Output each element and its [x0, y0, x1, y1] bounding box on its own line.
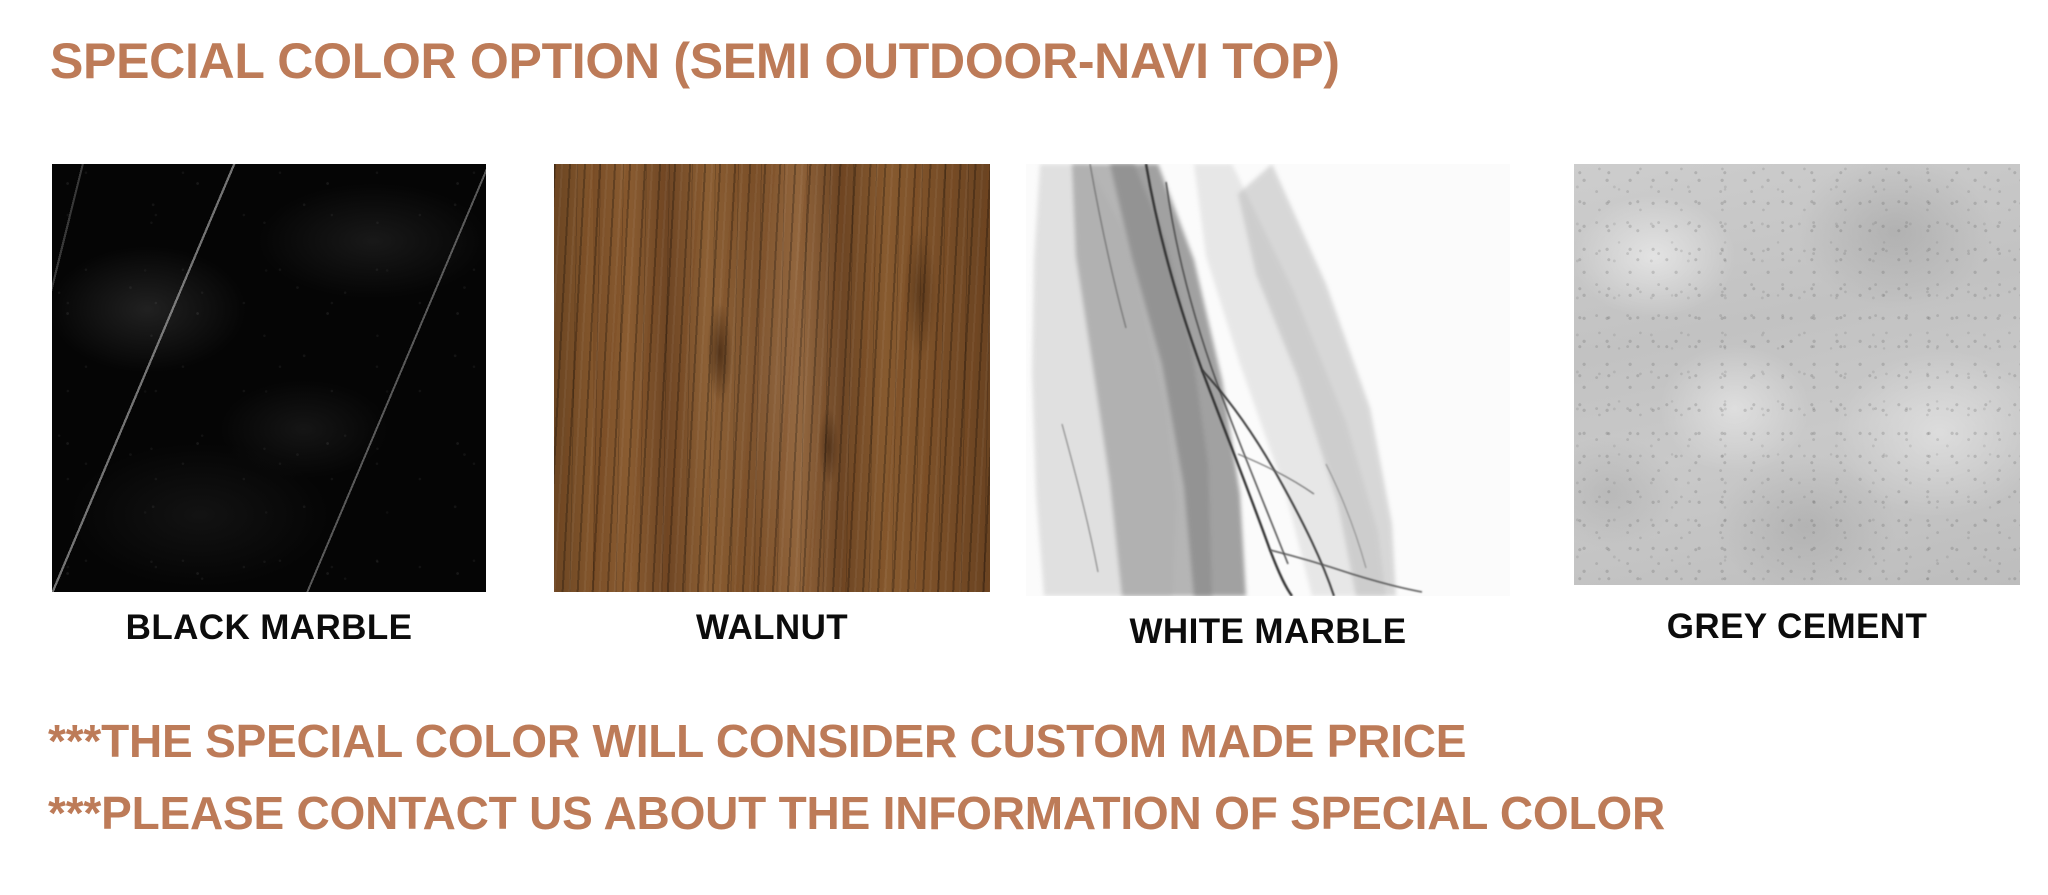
swatch-label-grey-cement: GREY CEMENT	[1574, 607, 2020, 647]
color-swatch-row: BLACK MARBLE WALNUT	[0, 164, 2048, 664]
swatch-item-white-marble[interactable]: WHITE MARBLE	[1026, 164, 1510, 652]
note-line-contact-us: ***PLEASE CONTACT US ABOUT THE INFORMATI…	[48, 777, 2008, 849]
swatch-label-white-marble: WHITE MARBLE	[1026, 612, 1510, 652]
page-title: SPECIAL COLOR OPTION (SEMI OUTDOOR-NAVI …	[50, 30, 1950, 92]
slide-canvas: SPECIAL COLOR OPTION (SEMI OUTDOOR-NAVI …	[0, 0, 2048, 895]
marble-vein-graphic	[1026, 164, 1510, 596]
swatch-label-walnut: WALNUT	[554, 608, 990, 648]
swatch-image-white-marble	[1026, 164, 1510, 596]
swatch-image-walnut	[554, 164, 990, 592]
footer-notes: ***THE SPECIAL COLOR WILL CONSIDER CUSTO…	[48, 705, 2008, 849]
swatch-label-black-marble: BLACK MARBLE	[52, 608, 486, 648]
swatch-image-black-marble	[52, 164, 486, 592]
swatch-item-walnut[interactable]: WALNUT	[554, 164, 990, 648]
swatch-item-black-marble[interactable]: BLACK MARBLE	[52, 164, 486, 648]
swatch-image-grey-cement	[1574, 164, 2020, 585]
note-line-custom-made-price: ***THE SPECIAL COLOR WILL CONSIDER CUSTO…	[48, 705, 2008, 777]
swatch-item-grey-cement[interactable]: GREY CEMENT	[1574, 164, 2020, 647]
